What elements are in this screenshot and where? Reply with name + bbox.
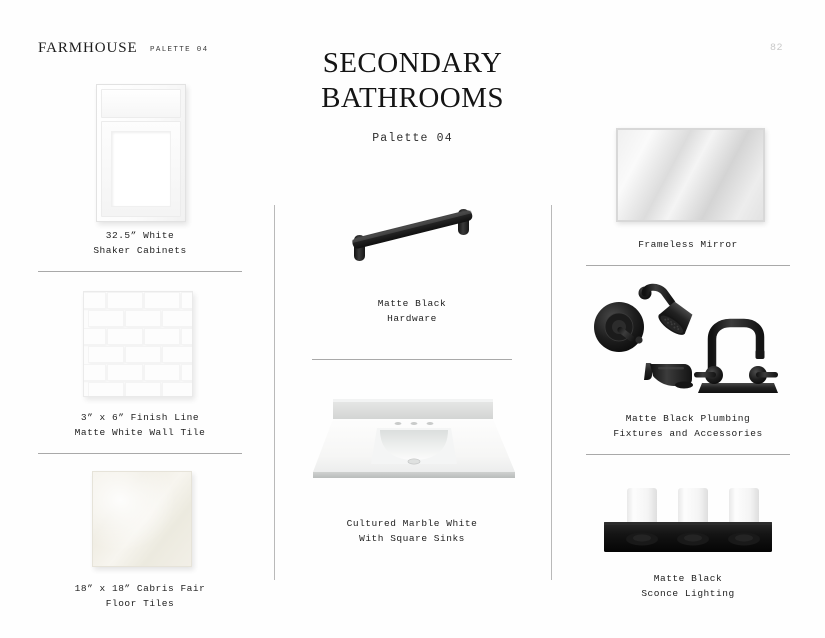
floor-tile-swatch	[92, 471, 192, 567]
left-divider-2	[38, 453, 242, 454]
subway-tile-swatch	[83, 291, 193, 397]
page-number: 82	[770, 43, 783, 54]
center-divider-1	[312, 359, 512, 360]
page-title-line-2: BATHROOMS	[203, 81, 623, 116]
column-divider-right	[551, 205, 552, 580]
cabinet-door-panel	[101, 121, 181, 217]
caption-matte-black-plumbing-fixtures: Matte Black Plumbing Fixtures and Access…	[586, 411, 790, 442]
shower-trim-and-faucet	[592, 281, 784, 393]
page-subtitle: Palette 04	[372, 132, 453, 145]
palette-board: FARMHOUSE PALETTE 04 82 SECONDARY BATHRO…	[0, 0, 825, 638]
cabinet-drawer-front	[101, 89, 181, 118]
column-divider-left	[274, 205, 275, 580]
caption-cabris-fair-floor-tiles: 18” x 18” Cabris Fair Floor Tiles	[38, 581, 242, 612]
caption-matte-white-wall-tile: 3” x 6” Finish Line Matte White Wall Til…	[38, 410, 242, 441]
caption-matte-black-hardware: Matte Black Hardware	[312, 296, 512, 327]
caption-white-shaker-cabinets: 32.5” White Shaker Cabinets	[38, 228, 242, 259]
rectangular-mirror	[616, 128, 765, 222]
page-title: SECONDARY BATHROOMS	[203, 46, 623, 117]
cabinet-door-swatch	[96, 84, 186, 222]
caption-cultured-marble-vanity-top: Cultured Marble White With Square Sinks	[312, 516, 512, 547]
bar-pull-handle	[345, 203, 480, 265]
right-divider-2	[586, 454, 790, 455]
caption-frameless-mirror: Frameless Mirror	[586, 237, 790, 252]
left-divider-1	[38, 271, 242, 272]
caption-matte-black-sconce-lighting: Matte Black Sconce Lighting	[586, 571, 790, 602]
page-title-line-1: SECONDARY	[323, 47, 503, 79]
vanity-countertop	[303, 392, 525, 484]
three-light-vanity-bar	[602, 478, 778, 556]
brand-wordmark: FARMHOUSE	[38, 40, 138, 57]
right-divider-1	[586, 265, 790, 266]
brand-palette-label: PALETTE 04	[150, 46, 209, 54]
